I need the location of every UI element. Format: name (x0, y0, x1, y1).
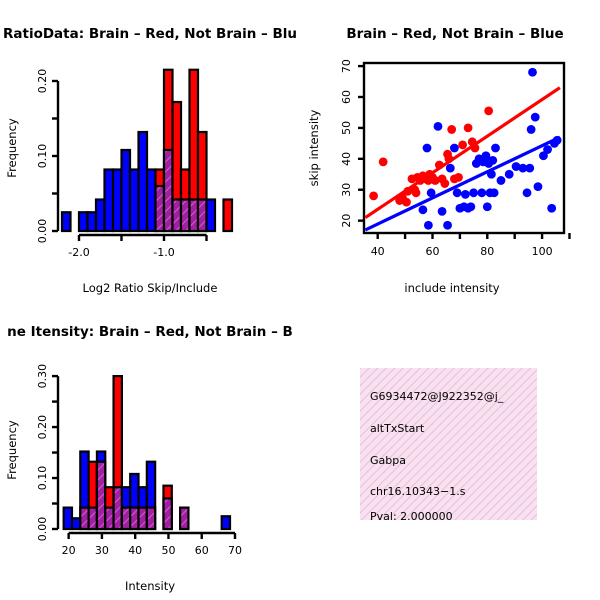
plot-page: RatioData: Brain – Red, Not Brain – Blu … (0, 0, 600, 600)
x-tick-label: 20 (62, 544, 76, 557)
scatter-point (464, 124, 473, 133)
gene-info-text-block: G6934472@J922352@j_ altTxStart Gabpa chr… (370, 368, 537, 520)
intensity-histogram-xlabel: Intensity (125, 579, 175, 593)
histogram-bar (122, 150, 131, 231)
y-tick-label: 0.10 (36, 466, 49, 491)
ratio-histogram-bars (62, 70, 232, 231)
x-tick-label: 80 (480, 245, 494, 258)
histogram-bar (222, 516, 230, 529)
histogram-bar (139, 132, 148, 231)
scatter-point (438, 207, 447, 216)
scatter-point (466, 202, 475, 211)
histogram-bar-overlap (122, 508, 130, 529)
scatter-point (531, 113, 540, 122)
histogram-bar-overlap (147, 508, 155, 529)
histogram-bar-overlap (180, 508, 188, 529)
scatter-title: Brain – Red, Not Brain – Blue (346, 26, 563, 42)
gene-symbol-line: Gabpa (370, 454, 406, 467)
histogram-bar-overlap (114, 487, 122, 529)
intensity-histogram-bars (64, 376, 230, 529)
scatter-point (469, 188, 478, 197)
scatter-point (427, 188, 436, 197)
scatter-point (461, 190, 470, 199)
scatter-point (534, 182, 543, 191)
histogram-bar (72, 518, 80, 529)
y-tick-label: 40 (340, 152, 353, 166)
x-tick-label: 40 (371, 245, 385, 258)
intensity-histogram-ylabel: Frequency (5, 420, 19, 480)
locus-line: chr16.10343−1.s (370, 485, 465, 498)
histogram-bar (224, 200, 233, 232)
x-tick-label: 60 (195, 544, 209, 557)
scatter-point (505, 170, 514, 179)
scatter-point (434, 122, 443, 131)
histogram-bar (207, 200, 216, 232)
scatter-point (488, 156, 497, 165)
scatter-point (497, 176, 506, 185)
histogram-bar-overlap (156, 186, 165, 231)
histogram-bar (79, 212, 88, 231)
x-tick-label: 40 (128, 544, 142, 557)
x-tick-label: 70 (228, 544, 242, 557)
y-tick-label: 70 (340, 59, 353, 73)
scatter-ylabel: skip intensity (307, 109, 321, 186)
scatter-point (450, 144, 459, 153)
scatter-point (527, 125, 536, 134)
y-tick-label: 50 (340, 121, 353, 135)
scatter-point (487, 170, 496, 179)
histogram-bar-overlap (139, 508, 147, 529)
scatter-point (419, 205, 428, 214)
histogram-bar-overlap (173, 200, 182, 232)
scatter-point (490, 188, 499, 197)
x-tick-label: 100 (532, 245, 553, 258)
scatter-point (528, 68, 537, 77)
scatter-point (440, 179, 449, 188)
scatter-point (445, 154, 454, 163)
histogram-bar (88, 212, 97, 231)
ratio-histogram-panel: RatioData: Brain – Red, Not Brain – Blu … (0, 0, 300, 310)
scatter-point (523, 188, 532, 197)
x-tick-label: 30 (95, 544, 109, 557)
pvalue-line: Pval: 2.000000 (370, 510, 453, 520)
ratio-histogram-svg: RatioData: Brain – Red, Not Brain – Blu … (0, 0, 300, 310)
y-tick-label: 0.00 (36, 517, 49, 542)
ratio-histogram-ylabel: Frequency (5, 118, 19, 178)
x-tick-label: -2.0 (68, 246, 89, 259)
scatter-svg: Brain – Red, Not Brain – Blue 2030405060… (300, 0, 600, 310)
histogram-bar (147, 170, 156, 232)
histogram-bar-overlap (198, 200, 207, 232)
scatter-point (543, 145, 552, 154)
scatter-point (412, 188, 421, 197)
event-type-line: altTxStart (370, 422, 424, 435)
histogram-bar-overlap (190, 200, 199, 232)
scatter-point (525, 164, 534, 173)
y-tick-label: 0.10 (36, 144, 49, 169)
scatter-point (443, 221, 452, 230)
histogram-bar (96, 200, 105, 232)
y-tick-label: 0.00 (36, 219, 49, 244)
scatter-point (547, 204, 556, 213)
histogram-bar-overlap (163, 498, 171, 529)
scatter-point (471, 144, 480, 153)
gene-id-line: G6934472@J922352@j_ (370, 390, 503, 403)
ratio-histogram-title: RatioData: Brain – Red, Not Brain – Blu (3, 26, 297, 42)
scatter-point (458, 141, 467, 150)
scatter-point (379, 158, 388, 167)
scatter-point (424, 221, 433, 230)
gene-info-panel: G6934472@J922352@j_ altTxStart Gabpa chr… (360, 368, 537, 520)
scatter-point (447, 125, 456, 134)
histogram-bar-overlap (181, 200, 190, 232)
ratio-histogram-xlabel: Log2 Ratio Skip/Include (83, 281, 218, 295)
y-tick-label: 20 (340, 214, 353, 228)
intensity-histogram-svg: ne Itensity: Brain – Red, Not Brain – B … (0, 300, 300, 600)
scatter-point (369, 192, 378, 201)
intensity-histogram-panel: ne Itensity: Brain – Red, Not Brain – B … (0, 300, 300, 600)
scatter-xlabel: include intensity (404, 281, 499, 295)
x-tick-label: 60 (425, 245, 439, 258)
histogram-bar (62, 212, 71, 231)
scatter-panel: Brain – Red, Not Brain – Blue 2030405060… (300, 0, 600, 310)
histogram-bar (113, 170, 122, 232)
intensity-histogram-title: ne Itensity: Brain – Red, Not Brain – B (7, 324, 293, 340)
scatter-point (484, 107, 493, 116)
scatter-point (435, 161, 444, 170)
scatter-point (453, 188, 462, 197)
y-tick-label: 30 (340, 183, 353, 197)
x-tick-label: 50 (161, 544, 175, 557)
histogram-bar (64, 508, 72, 529)
histogram-bar-overlap (97, 462, 105, 529)
x-tick-label: -1.0 (153, 246, 174, 259)
histogram-bar (130, 170, 139, 232)
histogram-bar-overlap (164, 150, 173, 231)
scatter-point (491, 144, 500, 153)
y-tick-label: 60 (340, 90, 353, 104)
histogram-bar-overlap (130, 508, 138, 529)
scatter-point (446, 164, 455, 173)
histogram-bar (105, 170, 114, 232)
y-tick-label: 0.20 (36, 415, 49, 440)
scatter-point (477, 188, 486, 197)
histogram-bar-overlap (80, 508, 88, 529)
scatter-point (402, 198, 411, 207)
scatter-point (454, 173, 463, 182)
y-tick-label: 0.20 (36, 69, 49, 94)
scatter-point (553, 136, 562, 145)
histogram-bar-overlap (89, 508, 97, 529)
y-tick-label: 0.30 (36, 364, 49, 389)
scatter-point (483, 202, 492, 211)
scatter-point (423, 144, 432, 153)
histogram-bar-overlap (105, 508, 113, 529)
